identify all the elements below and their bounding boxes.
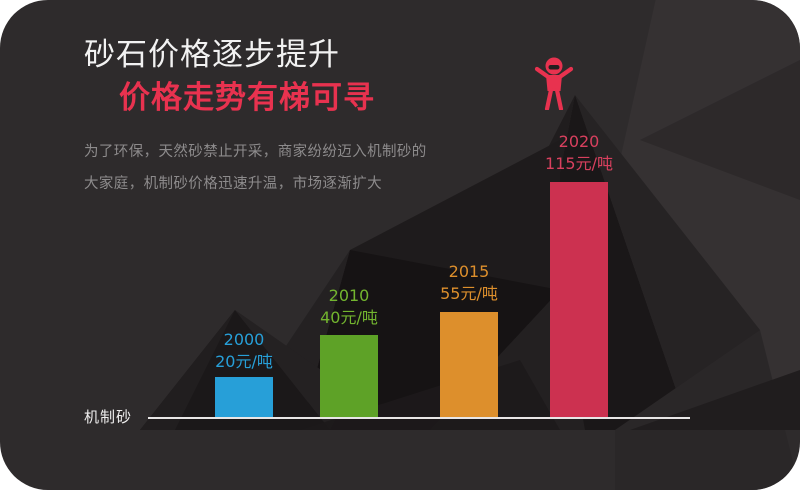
axis-label-category: 机制砂 [84,406,132,427]
bar-2010 [320,335,378,417]
bar-year-2020: 2020 [534,131,624,153]
infographic-canvas: 砂石价格逐步提升 价格走势有梯可寻 为了环保，天然砂禁止开采，商家纷纷迈入机制砂… [0,0,800,490]
bar-year-2010: 2010 [304,285,394,307]
bar-2000 [215,377,273,417]
bar-label-2010: 2010 40元/吨 [304,285,394,329]
bar-value-2020: 115元/吨 [534,153,624,175]
bar-label-2020: 2020 115元/吨 [534,131,624,175]
bar-value-2000: 20元/吨 [199,351,289,373]
bar-2015 [440,312,498,417]
bar-year-2000: 2000 [199,329,289,351]
chart-baseline [148,417,690,419]
bar-2020 [550,182,608,417]
bar-label-2015: 2015 55元/吨 [424,261,514,305]
bar-year-2015: 2015 [424,261,514,283]
bar-label-2000: 2000 20元/吨 [199,329,289,373]
bar-value-2015: 55元/吨 [424,283,514,305]
bar-value-2010: 40元/吨 [304,307,394,329]
bar-chart: 2000 20元/吨 2010 40元/吨 2015 55元/吨 2020 11… [0,0,800,490]
infographic-card: 砂石价格逐步提升 价格走势有梯可寻 为了环保，天然砂禁止开采，商家纷纷迈入机制砂… [0,0,800,490]
